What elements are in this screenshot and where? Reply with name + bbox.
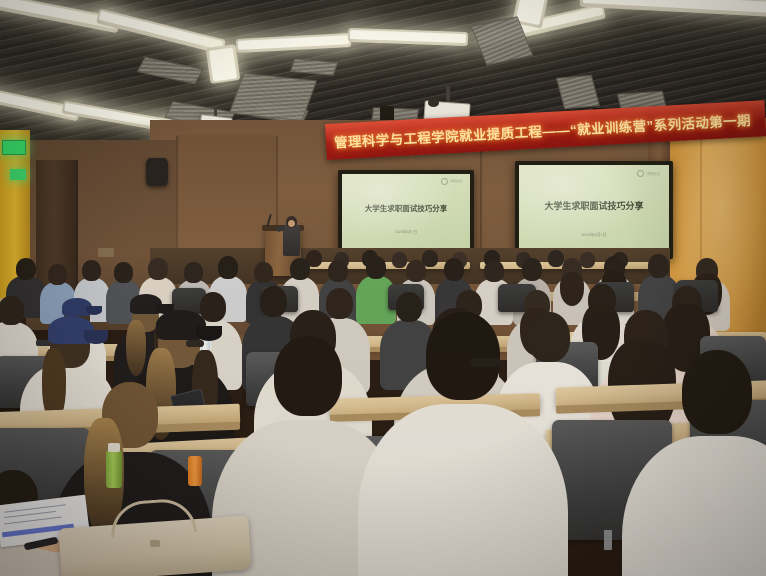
logo-mark xyxy=(441,178,448,185)
student-head xyxy=(648,254,669,278)
green-bottle[interactable] xyxy=(106,450,122,488)
lecture-hall-photo: 管理科学与工程学院就业提质工程——“就业训练营”系列活动第一期 学院标识 大学生… xyxy=(0,0,766,576)
right-slide-logo-label: 学院标识 xyxy=(646,171,660,176)
student-head xyxy=(396,292,422,322)
right-screen-frame: 学院标识 大学生求职面试技巧分享 2023年6月7日 xyxy=(515,161,673,259)
logo-mark xyxy=(637,170,644,177)
student-head xyxy=(682,350,752,434)
presenter-face xyxy=(288,220,295,227)
student-head xyxy=(274,336,342,416)
student-head xyxy=(522,258,542,281)
student-head xyxy=(82,260,101,281)
student-head xyxy=(290,258,310,280)
projector-lens xyxy=(428,99,439,107)
left-slide-title: 大学生求职面试技巧分享 xyxy=(342,203,470,214)
right-projection-screen: 学院标识 大学生求职面试技巧分享 2023年6月7日 xyxy=(519,165,669,255)
door-sign xyxy=(98,248,114,257)
student-head xyxy=(366,256,386,279)
ceiling-vent xyxy=(229,73,317,121)
audience-head xyxy=(392,252,407,268)
student-head xyxy=(200,292,226,322)
left-slide-logo-label: 学院标识 xyxy=(450,179,462,183)
student-head xyxy=(260,286,287,317)
student-head xyxy=(426,312,500,400)
wall-seam xyxy=(480,150,482,260)
student-head xyxy=(148,258,168,280)
right-slide-title: 大学生求职面试技巧分享 xyxy=(519,199,669,212)
student-head xyxy=(328,260,348,282)
student-head xyxy=(444,258,464,281)
student-head xyxy=(114,262,133,283)
student-head xyxy=(16,258,36,280)
exit-sign-icon xyxy=(2,140,26,155)
bottle-cap xyxy=(108,443,120,452)
slide-logo-icon: 学院标识 xyxy=(441,178,462,185)
student-torso xyxy=(358,404,568,576)
presenter-body xyxy=(283,224,300,256)
exit-sign-icon xyxy=(10,169,26,180)
left-screen-frame: 学院标识 大学生求职面试技巧分享 2023年6月7日 xyxy=(338,170,474,254)
ceiling-led-panel xyxy=(209,47,237,81)
student-head xyxy=(218,256,238,279)
student-hair-highlight xyxy=(126,320,146,376)
sunglasses-icon xyxy=(186,340,204,347)
student-head xyxy=(484,260,504,282)
student-head xyxy=(528,312,570,362)
student-head xyxy=(0,296,24,325)
eyeglasses-icon xyxy=(470,358,500,367)
left-slide-subtitle: 2023年6月7日 xyxy=(342,230,470,235)
handbag-clasp xyxy=(150,540,160,547)
audience-head xyxy=(580,252,595,268)
orange-bottle[interactable] xyxy=(188,456,202,486)
cap-brim xyxy=(86,306,102,315)
student-head xyxy=(48,264,67,285)
student-head xyxy=(406,260,426,282)
student-head xyxy=(184,262,203,283)
wall-mounted-speaker xyxy=(146,158,168,186)
chair-leg xyxy=(604,530,612,550)
slide-logo-icon: 学院标识 xyxy=(637,170,660,177)
right-slide-subtitle: 2023年6月7日 xyxy=(519,232,669,238)
student-hair xyxy=(560,272,584,306)
student-head xyxy=(254,262,273,283)
left-projection-screen: 学院标识 大学生求职面试技巧分享 2023年6月7日 xyxy=(342,174,470,250)
cap-brim xyxy=(84,330,108,344)
cap-brim xyxy=(196,326,222,341)
student-head xyxy=(326,288,353,319)
